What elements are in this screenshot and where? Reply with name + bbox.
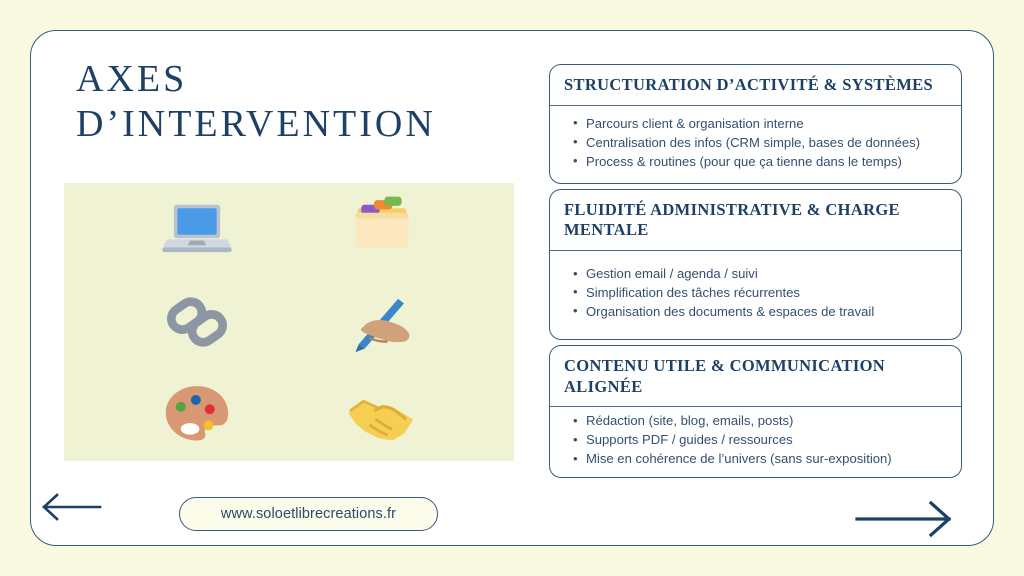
axis-card-title: CONTENU UTILE & COMMUNICATION ALIGNÉE (550, 346, 961, 408)
list-item: Process & routines (pour que ça tienne d… (586, 153, 949, 170)
axis-card-body: Rédaction (site, blog, emails, posts) Su… (550, 407, 961, 477)
list-item: Rédaction (site, blog, emails, posts) (586, 412, 949, 429)
icon-collage (64, 183, 514, 461)
axis-card-title: STRUCTURATION D’ACTIVITÉ & SYSTÈMES (550, 65, 961, 106)
axis-card-body: Gestion email / agenda / suivi Simplific… (550, 251, 961, 339)
axis-card[interactable]: STRUCTURATION D’ACTIVITÉ & SYSTÈMES Parc… (549, 64, 962, 184)
list-item: Mise en cohérence de l’univers (sans sur… (586, 450, 949, 467)
page-title: AXES D’INTERVENTION (76, 57, 546, 147)
handshake-icon (339, 372, 425, 458)
axis-card-title: FLUIDITÉ ADMINISTRATIVE & CHARGE MENTALE (550, 190, 961, 252)
axis-card[interactable]: FLUIDITÉ ADMINISTRATIVE & CHARGE MENTALE… (549, 189, 962, 340)
axis-card[interactable]: CONTENU UTILE & COMMUNICATION ALIGNÉE Ré… (549, 345, 962, 478)
laptop-icon (154, 186, 240, 272)
list-item: Organisation des documents & espaces de … (586, 303, 949, 320)
writing-hand-icon (339, 279, 425, 365)
axis-card-body: Parcours client & organisation interne C… (550, 106, 961, 183)
next-arrow-icon[interactable] (855, 498, 953, 545)
slide-panel: AXES D’INTERVENTION (30, 30, 994, 546)
list-item: Gestion email / agenda / suivi (586, 265, 949, 282)
axis-card-items: Rédaction (site, blog, emails, posts) Su… (562, 412, 949, 467)
artist-palette-icon (154, 372, 240, 458)
list-item: Centralisation des infos (CRM simple, ba… (586, 134, 949, 151)
website-url-button[interactable]: www.soloetlibrecreations.fr (179, 497, 438, 531)
link-icon (154, 279, 240, 365)
list-item: Simplification des tâches récurrentes (586, 284, 949, 301)
card-index-dividers-icon (339, 186, 425, 272)
website-url-label: www.soloetlibrecreations.fr (221, 506, 396, 522)
axis-card-items: Gestion email / agenda / suivi Simplific… (562, 265, 949, 320)
previous-arrow-icon[interactable] (40, 490, 102, 529)
list-item: Supports PDF / guides / ressources (586, 431, 949, 448)
axis-card-items: Parcours client & organisation interne C… (562, 115, 949, 170)
list-item: Parcours client & organisation interne (586, 115, 949, 132)
axes-card-list: STRUCTURATION D’ACTIVITÉ & SYSTÈMES Parc… (549, 64, 962, 483)
